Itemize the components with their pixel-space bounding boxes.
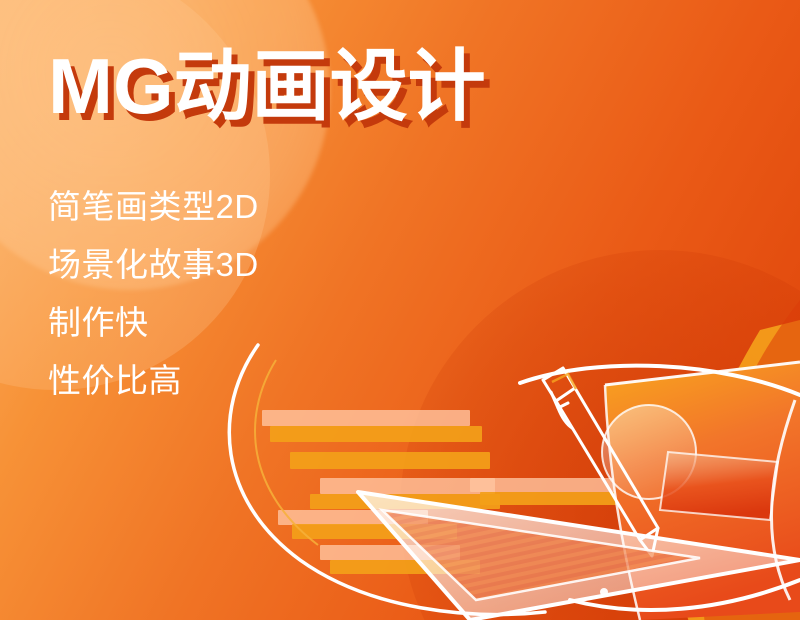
decor-bar-amber-5 xyxy=(330,560,480,574)
mg-animation-banner: MG动画设计 简笔画类型2D 场景化故事3D 制作快 性价比高 xyxy=(0,0,800,620)
decor-bar-amber-6 xyxy=(480,492,710,505)
decor-bar-amber-1 xyxy=(270,426,482,442)
feature-item-4: 性价比高 xyxy=(48,352,259,410)
decor-bar-light-5 xyxy=(470,478,700,492)
feature-item-2: 场景化故事3D xyxy=(48,236,259,294)
decor-bar-light-1 xyxy=(262,410,470,426)
decor-bar-amber-2 xyxy=(290,452,490,469)
feature-item-3: 制作快 xyxy=(48,294,259,352)
decor-bar-light-3 xyxy=(278,510,428,525)
decor-bar-light-2 xyxy=(320,478,495,494)
page-title: MG动画设计 xyxy=(48,46,486,128)
feature-list: 简笔画类型2D 场景化故事3D 制作快 性价比高 xyxy=(48,178,259,410)
decor-bar-amber-3 xyxy=(310,494,500,509)
decor-bar-light-4 xyxy=(320,545,460,560)
decor-bar-amber-4 xyxy=(292,524,457,539)
feature-item-1: 简笔画类型2D xyxy=(48,178,259,236)
